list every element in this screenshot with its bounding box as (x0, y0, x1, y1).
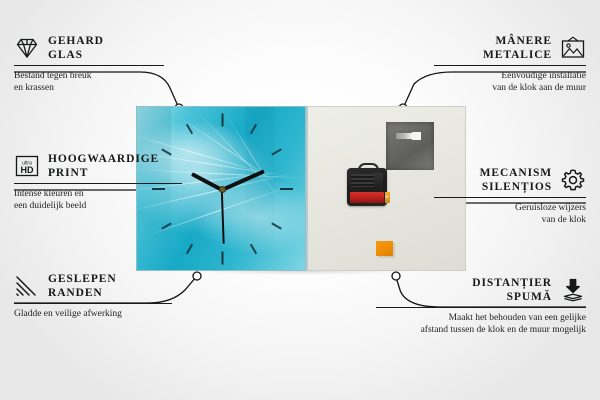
callout-rule (14, 303, 172, 304)
hanger-hole (412, 132, 421, 140)
product-image: + (136, 106, 466, 271)
callout-rule (376, 307, 586, 308)
gear-icon (560, 167, 586, 193)
callout-title: HOOGWAARDIGE PRINT (48, 152, 159, 180)
callout-gehard-glas: GEHARD GLAS Bestand tegen breuk en krass… (14, 34, 164, 94)
callout-rule (14, 183, 182, 184)
movement-hook (358, 163, 379, 173)
picture-frame-icon (560, 35, 586, 61)
ultra-hd-icon: ultra HD (14, 153, 40, 179)
battery-plus-icon: + (385, 195, 389, 200)
svg-text:HD: HD (21, 165, 34, 175)
hanger-plate (386, 122, 434, 170)
callout-title: GEHARD GLAS (48, 34, 104, 62)
callout-description: Maakt het behouden van een gelijke afsta… (376, 312, 586, 336)
callout-title: GESLEPEN RANDEN (48, 272, 117, 300)
callout-mecanism-silentios: MECANISM SILENȚIOS Geruisloze wijzers va… (434, 166, 586, 226)
tick-12 (222, 114, 224, 127)
callout-distantier-spuma: DISTANȚIER SPUMĂ Maakt het behouden van … (376, 276, 586, 336)
callout-hoogwaardige-print: ultra HD HOOGWAARDIGE PRINT Intense kleu… (14, 152, 182, 212)
foam-spacer (376, 241, 393, 256)
infographic-stage: + GEHARD GLAS Bestand tegen breuk en kra… (0, 0, 600, 400)
movement-box (374, 173, 383, 188)
callout-description: Intense kleuren en een duidelijk beeld (14, 188, 182, 212)
callout-geslepen-randen: GESLEPEN RANDEN Gladde en veilige afwerk… (14, 272, 172, 320)
diamond-icon (14, 35, 40, 61)
down-arrow-stack-icon (560, 277, 586, 303)
bevelled-edges-icon (14, 273, 40, 299)
tick-6 (222, 252, 224, 265)
clock-hub (219, 186, 226, 193)
callout-description: Geruisloze wijzers van de klok (434, 202, 586, 226)
callout-manere-metalice: MÂNERE METALICE Eenvoudige installatie v… (434, 34, 586, 94)
callout-description: Bestand tegen breuk en krassen (14, 70, 164, 94)
callout-rule (434, 65, 586, 66)
callout-description: Gladde en veilige afwerking (14, 308, 172, 320)
callout-title: MECANISM SILENȚIOS (480, 166, 552, 194)
callout-rule (14, 65, 164, 66)
clock-movement: + (347, 168, 387, 206)
movement-grill (351, 174, 375, 187)
tick-3 (280, 188, 293, 190)
callout-title: DISTANȚIER SPUMĂ (472, 276, 552, 304)
callout-title: MÂNERE METALICE (483, 34, 552, 62)
callout-description: Eenvoudige installatie van de klok aan d… (434, 70, 586, 94)
battery (350, 192, 384, 203)
callout-rule (434, 197, 586, 198)
